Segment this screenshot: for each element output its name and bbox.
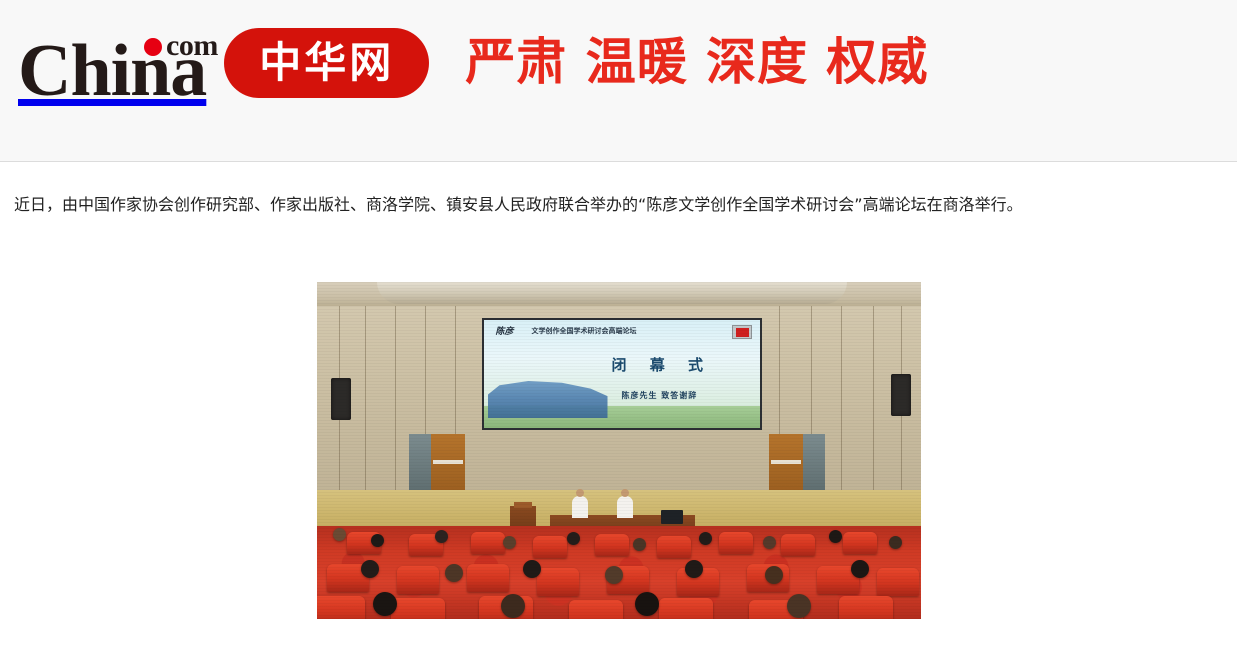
photo-audience-head — [567, 532, 580, 545]
photo-seat — [877, 568, 919, 596]
photo-audience-head — [435, 530, 448, 543]
photo-audience-head — [605, 566, 623, 584]
header-inner: China com 中华网 严肃 温暖 深度 权威 — [18, 22, 929, 108]
photo-seat — [397, 566, 439, 594]
photo-audience-head — [445, 564, 463, 582]
photo-audience-head — [763, 536, 776, 549]
photo-audience-head — [503, 536, 516, 549]
site-slogan: 严肃 温暖 深度 权威 — [465, 34, 928, 90]
photo-led-screen: 陈彦 文学创作全国学术研讨会高端论坛 闭 幕 式 陈彦先生 致答谢辞 — [482, 318, 762, 430]
photo-audience-head — [333, 528, 346, 541]
photo-seat — [839, 596, 893, 619]
site-logo[interactable]: China com — [18, 22, 206, 108]
photo-audience-head — [373, 592, 397, 616]
photo-seat — [569, 600, 623, 619]
photo-audience-head — [361, 560, 379, 578]
photo-wall-seam — [873, 306, 874, 492]
photo-audience-head — [635, 592, 659, 616]
photo-seat — [781, 534, 815, 556]
photo-audience-head — [699, 532, 712, 545]
article-body: 近日，由中国作家协会创作研究部、作家出版社、商洛学院、镇安县人民政府联合举办的“… — [0, 162, 1237, 635]
photo-seat — [533, 536, 567, 558]
photo-seat — [467, 564, 509, 592]
photo-door-frame — [409, 434, 431, 492]
photo-wall-speaker — [331, 378, 351, 420]
chinese-flag-icon — [732, 325, 752, 339]
photo-door — [431, 434, 465, 492]
brand-pill-label: 中华网 — [259, 42, 394, 84]
photo-seat — [595, 534, 629, 556]
photo-audience-head — [371, 534, 384, 547]
photo-stage-monitor — [661, 510, 683, 524]
photo-seat — [843, 532, 877, 554]
photo-door-frame — [803, 434, 825, 492]
photo-audience-head — [633, 538, 646, 551]
photo-seated-speaker — [617, 496, 633, 518]
photo-audience-head — [523, 560, 541, 578]
article-photo: 陈彦 文学创作全国学术研讨会高端论坛 闭 幕 式 陈彦先生 致答谢辞 — [317, 282, 921, 619]
article-lede-paragraph: 近日，由中国作家协会创作研究部、作家出版社、商洛学院、镇安县人民政府联合举办的“… — [0, 162, 1237, 218]
site-header: China com 中华网 严肃 温暖 深度 权威 — [0, 0, 1237, 162]
photo-audience-head — [765, 566, 783, 584]
photo-audience-head — [851, 560, 869, 578]
photo-seat — [471, 532, 505, 554]
photo-seat — [719, 532, 753, 554]
photo-audience-head — [787, 594, 811, 618]
photo-audience-head — [685, 560, 703, 578]
photo-screen-banner-title: 文学创作全国学术研讨会高端论坛 — [532, 326, 637, 336]
photo-audience-head — [501, 594, 525, 618]
logo-tld: com — [166, 31, 218, 61]
photo-wall-speaker — [891, 374, 911, 416]
photo-audience-head — [829, 530, 842, 543]
photo-screen-main-title: 闭 幕 式 — [612, 354, 712, 375]
red-dot-icon — [144, 38, 162, 56]
photo-seat — [657, 536, 691, 558]
photo-seat — [317, 596, 365, 619]
photo-wall-seam — [365, 306, 366, 492]
photo-door — [769, 434, 803, 492]
photo-seat — [659, 598, 713, 619]
brand-pill-badge[interactable]: 中华网 — [224, 28, 429, 98]
photo-seat — [391, 598, 445, 619]
photo-audience-head — [889, 536, 902, 549]
photo-screen-subtitle: 陈彦先生 致答谢辞 — [622, 390, 698, 401]
photo-seat — [537, 568, 579, 596]
photo-ceiling-duct — [377, 282, 847, 304]
photo-screen-logo: 陈彦 — [496, 324, 514, 337]
article-figure-wrap: 陈彦 文学创作全国学术研讨会高端论坛 闭 幕 式 陈彦先生 致答谢辞 — [0, 266, 1237, 635]
photo-screen-building — [488, 376, 608, 418]
photo-wall-seam — [841, 306, 842, 492]
photo-wall-seam — [395, 306, 396, 492]
photo-seated-speaker — [572, 496, 588, 518]
